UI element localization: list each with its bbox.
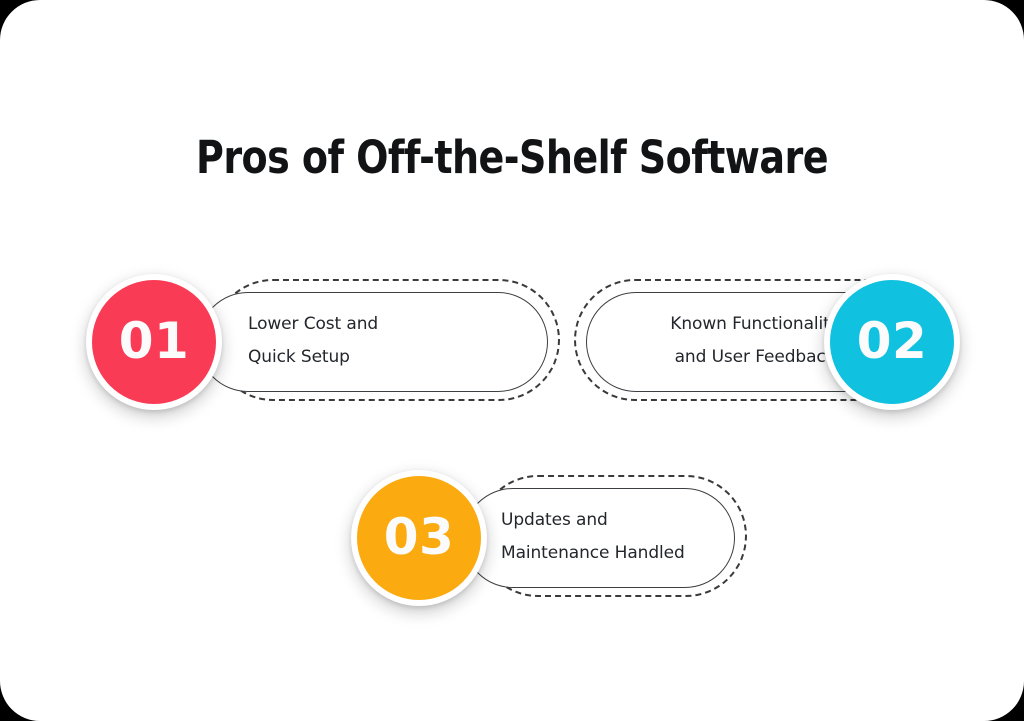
number-badge: 02 <box>824 274 960 410</box>
item-text-line: Lower Cost and <box>248 308 378 341</box>
badge-number: 03 <box>384 512 455 562</box>
item-text-line: Maintenance Handled <box>501 537 685 570</box>
infographic-card: Pros of Off-the-Shelf Software Lower Cos… <box>0 0 1024 721</box>
list-item: Lower Cost and Quick Setup 01 <box>80 266 490 418</box>
item-text: Lower Cost and Quick Setup <box>248 308 378 374</box>
badge-number: 02 <box>857 316 928 366</box>
list-item: Known Functionality and User Feedback 02 <box>570 266 982 418</box>
item-text-line: Updates and <box>501 504 685 537</box>
number-badge: 03 <box>351 470 487 606</box>
list-item: Updates and Maintenance Handled 03 <box>345 462 757 614</box>
page-title: Pros of Off-the-Shelf Software <box>31 131 994 184</box>
number-badge: 01 <box>86 274 222 410</box>
item-text: Updates and Maintenance Handled <box>501 504 685 570</box>
item-text-line: Quick Setup <box>248 341 378 374</box>
badge-number: 01 <box>119 316 190 366</box>
